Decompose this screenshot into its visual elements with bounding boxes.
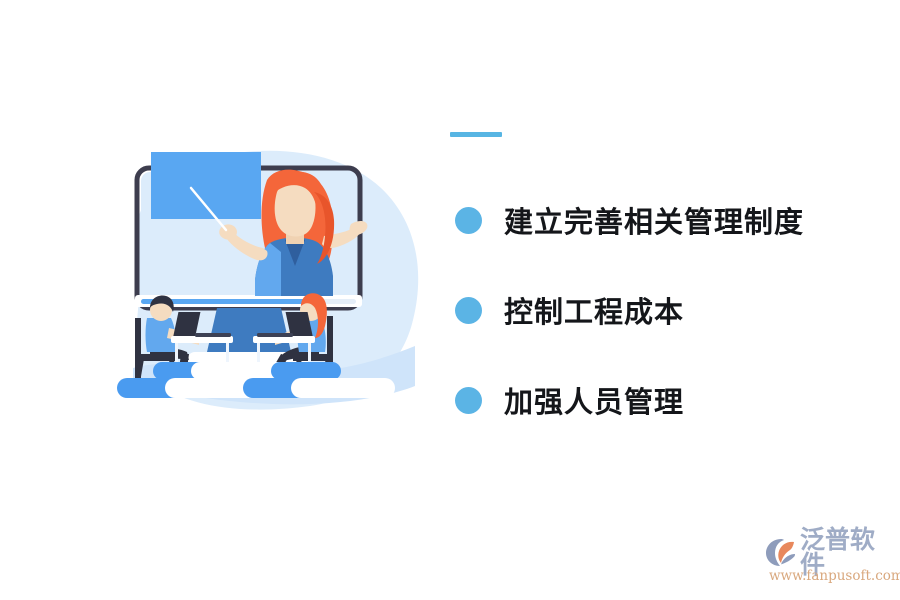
laptop-left-base	[195, 333, 231, 337]
bullet-label: 建立完善相关管理制度	[504, 199, 804, 241]
book-lower-4	[291, 378, 395, 398]
bullet-label: 控制工程成本	[504, 289, 684, 331]
bullet-label: 加强人员管理	[504, 379, 684, 421]
list-item: 加强人员管理	[455, 355, 875, 445]
online-classroom-illustration	[95, 140, 430, 415]
desk-left-top	[171, 336, 233, 343]
monitor-stand	[207, 308, 291, 352]
list-item: 建立完善相关管理制度	[455, 175, 875, 265]
accent-bar	[450, 132, 502, 137]
desk-right-top	[253, 336, 315, 343]
whiteboard	[151, 152, 261, 219]
books-row-lower	[117, 378, 395, 398]
brand-logo: 泛普软件 www.fanpusoft.com	[765, 535, 890, 590]
bullet-list: 建立完善相关管理制度 控制工程成本 加强人员管理	[455, 175, 875, 445]
laptop-right-base	[257, 333, 293, 337]
bullet-dot-icon	[455, 297, 482, 324]
list-item: 控制工程成本	[455, 265, 875, 355]
slide-canvas: 建立完善相关管理制度 控制工程成本 加强人员管理 泛普软件 www.fanpus…	[0, 0, 900, 600]
fanpu-swoosh-icon	[765, 537, 797, 567]
logo-row: 泛普软件	[765, 535, 890, 569]
bullet-dot-icon	[455, 207, 482, 234]
bullet-dot-icon	[455, 387, 482, 414]
book-upper-3	[271, 362, 341, 380]
logo-website-url: www.fanpusoft.com	[769, 570, 890, 584]
books-row-upper	[153, 362, 341, 380]
